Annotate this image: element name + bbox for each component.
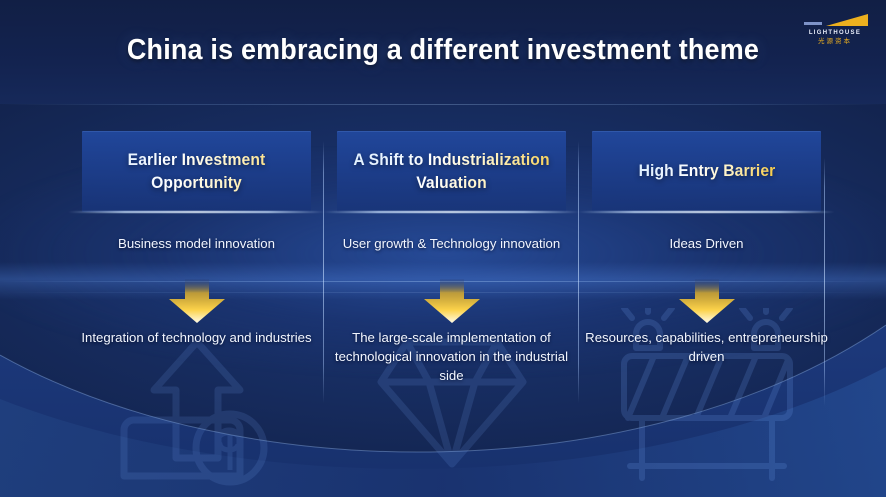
slide-canvas: LIGHTHOUSE 光源资本 China is embracing a dif… [0, 0, 886, 497]
column-3-arrow [580, 278, 833, 324]
column-3-body: Ideas Driven Resources, capabilities, en… [580, 212, 833, 366]
column-3-header-panel: High Entry Barrier [592, 131, 821, 212]
column-1-body: Business model innovation [70, 212, 323, 347]
column-2-bottom-text: The large-scale implementation of techno… [325, 328, 578, 385]
column-1-arrow [70, 278, 323, 324]
column-2-top-text: User growth & Technology innovation [325, 234, 578, 272]
column-divider-1 [323, 141, 324, 403]
column-1-bottom-text: Integration of technology and industries [70, 328, 323, 347]
column-1-heading: Earlier Investment Opportunity [88, 149, 306, 195]
down-arrow-icon [165, 279, 229, 323]
column-2-body: User growth & Technology innovation The … [325, 212, 578, 385]
column-3-top-text: Ideas Driven [580, 234, 833, 272]
column-2-arrow [325, 278, 578, 324]
column-1-top-text: Business model innovation [70, 234, 323, 272]
down-arrow-icon [675, 279, 739, 323]
column-divider-2 [578, 141, 579, 403]
columns-container: Earlier Investment Opportunity Business … [0, 0, 886, 497]
column-high-entry-barrier: High Entry Barrier Ideas Driven [580, 131, 833, 366]
column-earlier-investment-opportunity: Earlier Investment Opportunity Business … [70, 131, 323, 347]
column-3-heading: High Entry Barrier [638, 160, 775, 183]
column-3-bottom-text: Resources, capabilities, entrepreneurshi… [580, 328, 833, 366]
column-1-header-panel: Earlier Investment Opportunity [82, 131, 311, 212]
column-2-header-panel: A Shift to Industrialization Valuation [337, 131, 566, 212]
column-2-heading: A Shift to Industrialization Valuation [343, 149, 561, 195]
down-arrow-icon [420, 279, 484, 323]
column-shift-to-industrialization-valuation: A Shift to Industrialization Valuation U… [325, 131, 578, 385]
